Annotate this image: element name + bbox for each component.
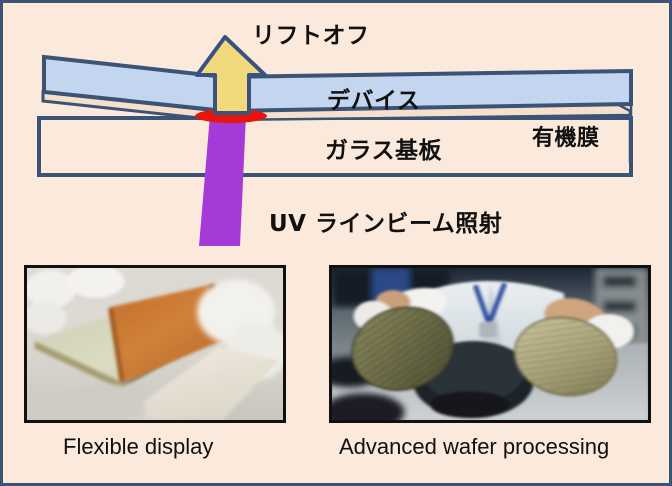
advanced-wafer-processing-photo: [329, 265, 651, 423]
flexible-display-photo: [24, 265, 286, 423]
device-layer-flat-shape: [223, 71, 631, 111]
lift-off-label: リフトオフ: [252, 16, 370, 50]
lift-off-process-diagram: リフトオフ デバイス ガラス基板 有機膜 UV ラインビーム照射: [3, 3, 669, 255]
glass-substrate-label: ガラス基板: [325, 131, 442, 165]
uv-line-beam-label: UV ラインビーム照射: [269, 204, 502, 238]
device-layer-label: デバイス: [327, 81, 420, 115]
flexible-display-caption: Flexible display: [63, 434, 213, 460]
advanced-wafer-processing-caption: Advanced wafer processing: [339, 434, 609, 460]
organic-film-label: 有機膜: [532, 120, 600, 152]
slide-canvas: リフトオフ デバイス ガラス基板 有機膜 UV ラインビーム照射: [0, 0, 672, 486]
